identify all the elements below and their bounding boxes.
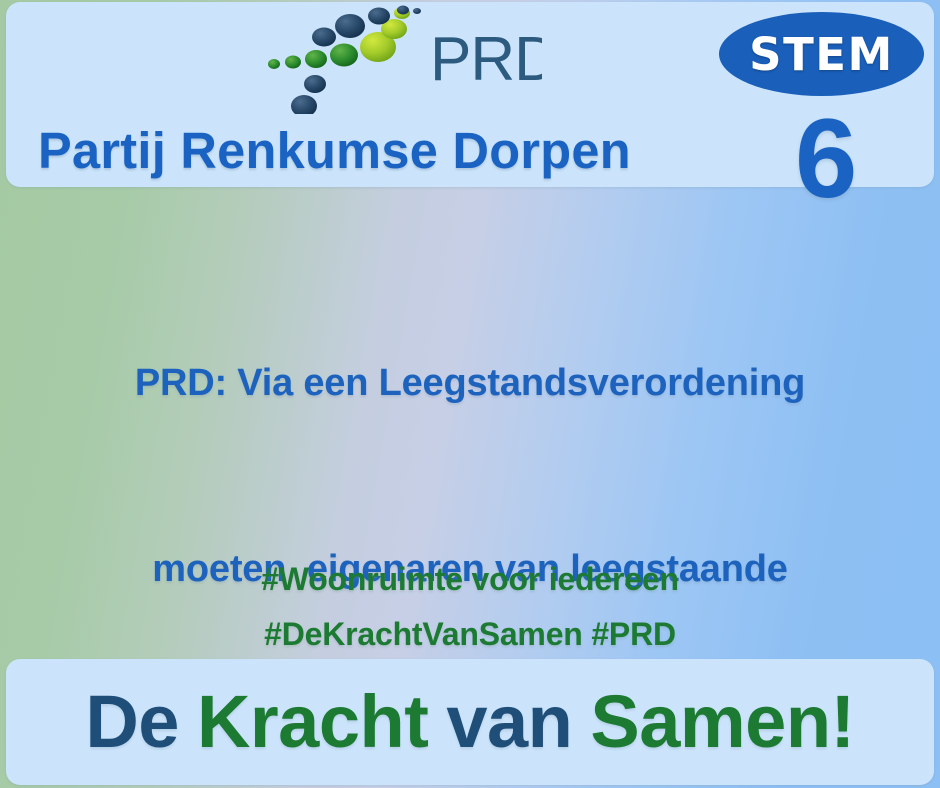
slogan-word-de: De: [85, 680, 179, 763]
slogan-word-van: van: [446, 680, 572, 763]
hashtag-block: #Woonruimte voor iedereen #DeKrachtVanSa…: [0, 552, 940, 662]
slogan-word-samen: Samen!: [590, 680, 854, 763]
message-line: PRD: Via een Leegstandsverordening: [0, 352, 940, 414]
slogan-word-kracht: Kracht: [197, 680, 428, 763]
party-name: Partij Renkumse Dorpen: [38, 118, 743, 182]
prd-swoosh-dots-logo: PRD: [262, 2, 542, 114]
footer-band: DeKrachtvanSamen!: [6, 659, 934, 785]
prd-logo: PRD: [262, 2, 542, 114]
slogan: DeKrachtvanSamen!: [85, 685, 854, 759]
svg-text:PRD: PRD: [430, 25, 542, 94]
stem-badge-label: STEM: [719, 12, 924, 96]
list-number: 6: [795, 103, 857, 215]
hashtag-line: #DeKrachtVanSamen #PRD: [0, 607, 940, 662]
stem-badge: STEM: [719, 12, 924, 96]
campaign-poster: PRD STEM Partij Renkumse Dorpen 6 PRD: V…: [0, 0, 940, 788]
hashtag-line: #Woonruimte voor iedereen: [0, 552, 940, 607]
